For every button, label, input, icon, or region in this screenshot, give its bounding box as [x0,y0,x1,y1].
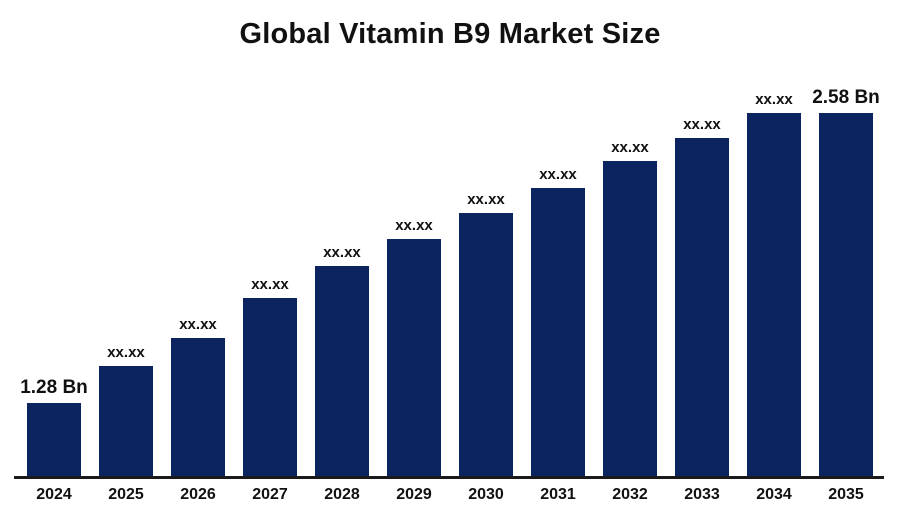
bar-2026[interactable] [171,338,225,476]
x-tick-2033: 2033 [666,486,738,504]
x-tick-2026: 2026 [162,486,234,504]
chart-title: Global Vitamin B9 Market Size [0,18,900,51]
bar-value-label: xx.xx [539,167,577,182]
bar-slot-2030: xx.xx [450,88,522,476]
x-tick-2032: 2032 [594,486,666,504]
bar-slot-2029: xx.xx [378,88,450,476]
bars-row: 1.28 Bn xx.xx xx.xx xx.xx xx.xx xx.xx [18,88,882,476]
bar-2028[interactable] [315,266,369,476]
bar-value-label: xx.xx [755,92,793,107]
bar-slot-2033: xx.xx [666,88,738,476]
bar-value-label: 2.58 Bn [812,88,880,107]
bar-value-label: xx.xx [683,117,721,132]
bar-slot-2024: 1.28 Bn [18,88,90,476]
bar-value-label: xx.xx [467,192,505,207]
x-tick-2027: 2027 [234,486,306,504]
x-tick-2034: 2034 [738,486,810,504]
x-tick-2025: 2025 [90,486,162,504]
x-axis-labels: 2024 2025 2026 2027 2028 2029 2030 2031 … [18,486,882,504]
bar-2025[interactable] [99,366,153,476]
x-axis-line [14,476,884,479]
bar-slot-2026: xx.xx [162,88,234,476]
x-tick-2028: 2028 [306,486,378,504]
bar-2030[interactable] [459,213,513,476]
bar-slot-2035: 2.58 Bn [810,88,882,476]
x-tick-2024: 2024 [18,486,90,504]
bar-value-label: xx.xx [611,140,649,155]
bar-value-label: xx.xx [179,317,217,332]
bar-value-label: xx.xx [323,245,361,260]
bar-slot-2031: xx.xx [522,88,594,476]
bar-value-label: xx.xx [251,277,289,292]
bar-2031[interactable] [531,188,585,476]
bar-slot-2027: xx.xx [234,88,306,476]
x-tick-2031: 2031 [522,486,594,504]
bar-2034[interactable] [747,113,801,476]
bar-slot-2034: xx.xx [738,88,810,476]
x-tick-2030: 2030 [450,486,522,504]
bar-2029[interactable] [387,239,441,476]
x-tick-2029: 2029 [378,486,450,504]
x-tick-2035: 2035 [810,486,882,504]
bar-2024[interactable] [27,403,81,476]
bar-slot-2028: xx.xx [306,88,378,476]
bar-value-label: xx.xx [395,218,433,233]
plot-area: 1.28 Bn xx.xx xx.xx xx.xx xx.xx xx.xx [18,88,882,476]
bar-slot-2025: xx.xx [90,88,162,476]
chart-container: Global Vitamin B9 Market Size 1.28 Bn xx… [0,0,900,525]
bar-value-label: xx.xx [107,345,145,360]
bar-2033[interactable] [675,138,729,476]
bar-slot-2032: xx.xx [594,88,666,476]
bar-value-label: 1.28 Bn [20,378,88,397]
bar-2027[interactable] [243,298,297,476]
bar-2035[interactable] [819,113,873,476]
bar-2032[interactable] [603,161,657,476]
